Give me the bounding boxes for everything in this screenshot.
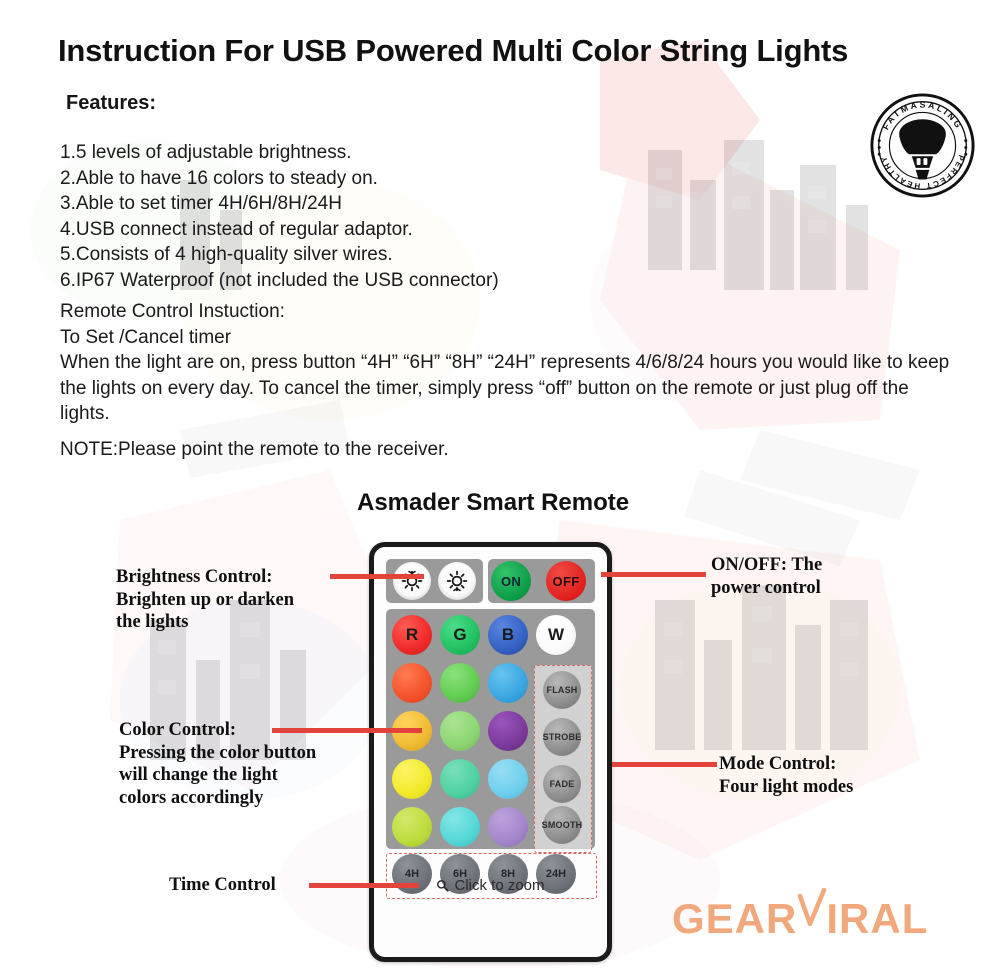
color-button-lime[interactable]	[392, 807, 432, 847]
callout-line: Time Control	[169, 874, 276, 897]
leader-line-mode	[612, 762, 717, 767]
callout-time-control: Time Control	[169, 874, 276, 897]
gearviral-watermark: GEARVIRAL	[672, 895, 928, 943]
callout-line: the lights	[116, 611, 294, 634]
leader-line-on-off	[601, 572, 706, 577]
color-button-light-blue[interactable]	[488, 759, 528, 799]
leader-line-brightness	[330, 574, 424, 579]
page-title: Instruction For USB Powered Multi Color …	[58, 33, 848, 69]
sun-icon	[445, 569, 469, 593]
brightness-up-button[interactable]	[393, 562, 431, 600]
leader-line-color	[272, 728, 422, 733]
features-heading: Features:	[66, 92, 156, 115]
color-button-purple[interactable]	[488, 711, 528, 751]
callout-line: ON/OFF: The	[711, 554, 822, 577]
color-button-red[interactable]: R	[392, 615, 432, 655]
color-button-white[interactable]: W	[536, 615, 576, 655]
feature-item: 6.IP67 Waterproof (not included the USB …	[60, 268, 499, 294]
remote-title: Asmader Smart Remote	[357, 489, 629, 517]
brightness-down-button[interactable]	[438, 562, 476, 600]
callout-on-off-control: ON/OFF: The power control	[711, 554, 822, 599]
color-button-orange-red[interactable]	[392, 663, 432, 703]
callout-line: will change the light	[119, 764, 316, 787]
color-button-light-green[interactable]	[440, 663, 480, 703]
instruction-subheading: To Set /Cancel timer	[60, 325, 950, 351]
color-button-lavender[interactable]	[488, 807, 528, 847]
remote-control-image[interactable]: ON OFF R G B W	[369, 542, 612, 962]
mode-button-smooth[interactable]: SMOOTH	[543, 806, 581, 844]
mode-button-strobe[interactable]: STROBE	[543, 718, 581, 756]
callout-brightness-control: Brightness Control: Brighten up or darke…	[116, 566, 294, 634]
mode-button-fade[interactable]: FADE	[543, 765, 581, 803]
power-on-button[interactable]: ON	[491, 561, 531, 601]
color-button-pale-green[interactable]	[440, 711, 480, 751]
leader-line-time	[309, 883, 419, 888]
instruction-heading: Remote Control Instuction:	[60, 299, 950, 325]
watermark-check-v: V	[797, 895, 826, 943]
color-button-mint[interactable]	[440, 759, 480, 799]
instruction-body: When the light are on, press button “4H”…	[60, 350, 950, 427]
callout-line: Brightness Control:	[116, 566, 294, 589]
callout-line: power control	[711, 577, 822, 600]
click-to-zoom-label: Click to zoom	[454, 877, 544, 894]
callout-mode-control: Mode Control: Four light modes	[719, 753, 853, 798]
feature-item: 5.Consists of 4 high-quality silver wire…	[60, 242, 499, 268]
callout-line: colors accordingly	[119, 787, 316, 810]
callout-line: Four light modes	[719, 776, 853, 799]
color-button-blue[interactable]: B	[488, 615, 528, 655]
color-button-yellow[interactable]	[392, 759, 432, 799]
features-list: 1.5 levels of adjustable brightness. 2.A…	[60, 140, 499, 293]
fatmasaling-stamp-logo: FATMASALING PERFECT HEALTHY	[869, 92, 976, 199]
watermark-part-one: GEAR	[672, 895, 797, 942]
watermark-part-two: IRAL	[826, 895, 928, 942]
check-icon	[794, 886, 828, 934]
feature-item: 3.Able to set timer 4H/6H/8H/24H	[60, 191, 499, 217]
mode-button-flash[interactable]: FLASH	[543, 671, 581, 709]
feature-item: 2.Able to have 16 colors to steady on.	[60, 166, 499, 192]
callout-line: Mode Control:	[719, 753, 853, 776]
color-button-green[interactable]: G	[440, 615, 480, 655]
callout-line: Pressing the color button	[119, 742, 316, 765]
brightness-panel	[386, 559, 483, 603]
sun-icon	[400, 569, 424, 593]
callout-line: Brighten up or darken	[116, 589, 294, 612]
color-button-cyan[interactable]	[440, 807, 480, 847]
color-button-sky-blue[interactable]	[488, 663, 528, 703]
magnifier-icon	[436, 879, 449, 892]
remote-control-instruction: Remote Control Instuction: To Set /Cance…	[60, 299, 950, 427]
power-panel: ON OFF	[488, 559, 595, 603]
feature-item: 1.5 levels of adjustable brightness.	[60, 140, 499, 166]
feature-item: 4.USB connect instead of regular adaptor…	[60, 217, 499, 243]
power-off-button[interactable]: OFF	[546, 561, 586, 601]
note-text: NOTE:Please point the remote to the rece…	[60, 437, 449, 462]
